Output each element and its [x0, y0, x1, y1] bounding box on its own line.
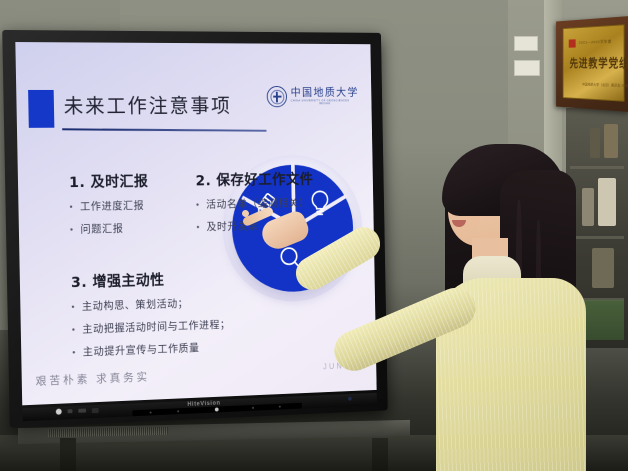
- list-item: 主动构思、策划活动；: [71, 294, 230, 313]
- section-1: 1. 及时汇报 工作进度汇报 问题汇报: [69, 170, 150, 244]
- section-2-title: 保存好工作文件: [216, 172, 313, 189]
- usb-port[interactable]: [68, 409, 73, 413]
- section-1-number: 1.: [69, 175, 85, 191]
- stand-leg-left: [60, 438, 76, 471]
- section-1-title: 及时汇报: [91, 174, 149, 191]
- party-emblem-icon: [569, 39, 576, 47]
- wall-note: [514, 60, 540, 76]
- logo-name-en2: BEIJING: [291, 103, 359, 106]
- logo-name-cn: 中国地质大学: [291, 87, 359, 98]
- display-screen[interactable]: 未来工作注意事项 中国地质大学 CHINA UNIVERSITY OF GEOS…: [15, 42, 376, 405]
- slide-title: 未来工作注意事项: [63, 90, 231, 119]
- wall-note: [514, 36, 538, 51]
- presenter: [330, 130, 628, 471]
- plaque-bottom-line: 中国地质大学（北京）委员会 2022年6月: [582, 83, 628, 90]
- presentation-slide: 未来工作注意事项 中国地质大学 CHINA UNIVERSITY OF GEOS…: [15, 42, 376, 405]
- title-underline: [62, 128, 266, 131]
- slide-motto: 艰苦朴素 求真务实: [35, 368, 150, 388]
- section-2-number: 2.: [195, 174, 211, 190]
- power-port[interactable]: [56, 409, 62, 415]
- section-3: 3. 增强主动性 主动构思、策划活动； 主动把握活动时间与工作进程； 主动提升宣…: [71, 267, 231, 367]
- title-accent-bar: [28, 90, 54, 128]
- section-2-heading: 2. 保存好工作文件: [195, 168, 313, 190]
- section-3-heading: 3. 增强主动性: [71, 267, 230, 292]
- list-item: 工作进度汇报: [69, 198, 149, 214]
- section-1-bullets: 工作进度汇报 问题汇报: [69, 198, 149, 237]
- award-plaque: 2021—2022学年度 先进教学党组织 中国地质大学（北京）委员会 2022年…: [556, 16, 628, 112]
- list-item: 问题汇报: [70, 220, 150, 236]
- plaque-main-line: 先进教学党组织: [570, 54, 628, 73]
- port-panel[interactable]: [56, 407, 99, 415]
- list-item: 主动把握活动时间与工作进程；: [72, 317, 231, 337]
- section-3-title: 增强主动性: [92, 273, 164, 291]
- list-item: 主动提升宣传与工作质量: [72, 339, 231, 359]
- list-item: 活动名单（综测相关）: [196, 195, 314, 211]
- university-logo: 中国地质大学 CHINA UNIVERSITY OF GEOSCIENCES B…: [267, 86, 359, 107]
- hdmi-port[interactable]: [78, 408, 86, 412]
- section-3-bullets: 主动构思、策划活动； 主动把握活动时间与工作进程； 主动提升宣传与工作质量: [71, 294, 231, 359]
- plaque-top-line: 2021—2022学年度: [579, 39, 612, 46]
- section-1-heading: 1. 及时汇报: [69, 170, 149, 192]
- screenshot-root: 2021—2022学年度 先进教学党组织 中国地质大学（北京）委员会 2022年…: [0, 0, 628, 471]
- aux-port[interactable]: [92, 407, 99, 412]
- section-3-number: 3.: [71, 275, 87, 291]
- university-seal-icon: [267, 86, 288, 107]
